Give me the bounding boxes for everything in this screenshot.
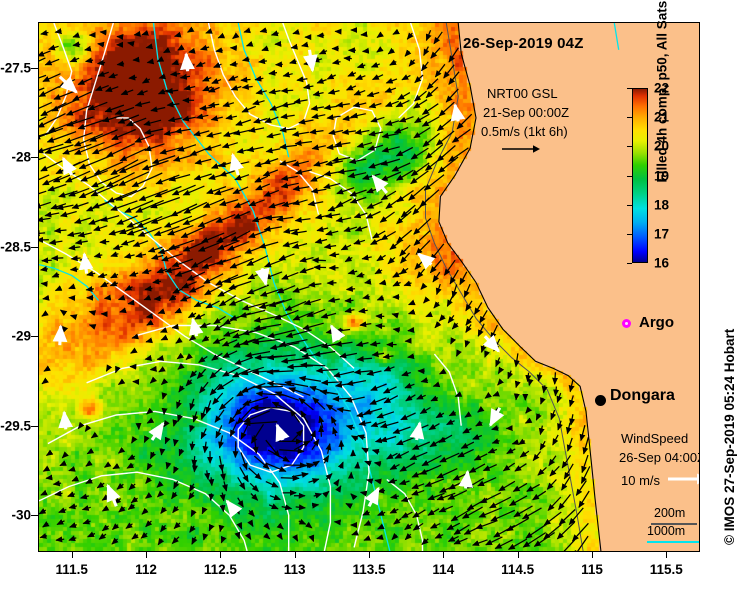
current-vector-arrow (236, 120, 251, 125)
current-vector-arrow (147, 464, 150, 470)
current-vector-arrow (377, 412, 394, 418)
current-vector-arrow (178, 365, 183, 369)
current-vector-arrow (158, 311, 164, 313)
current-vector-arrow (97, 483, 104, 488)
current-vector-arrow (414, 128, 430, 138)
current-vector-arrow (460, 272, 467, 285)
current-vector-arrow (61, 310, 64, 312)
current-vector-arrow (213, 338, 225, 343)
current-vector-arrow (371, 343, 381, 345)
current-vector-arrow (146, 341, 150, 342)
current-vector-arrow (103, 526, 109, 531)
current-vector-arrow (359, 310, 368, 311)
current-vector-arrow (41, 103, 66, 116)
current-vector-arrow (439, 316, 444, 321)
current-vector-arrow (248, 535, 251, 539)
y-tickmark (31, 247, 38, 248)
current-vector-arrow (131, 498, 137, 503)
current-vector-arrow (146, 47, 150, 48)
map-overlay-vectors (39, 23, 699, 551)
current-vector-arrow (293, 187, 309, 190)
current-vector-arrow (473, 436, 482, 440)
current-vector-arrow (133, 60, 139, 61)
current-vector-arrow (386, 79, 397, 83)
current-vector-arrow (390, 465, 399, 470)
current-vector-arrow (189, 51, 195, 52)
current-vector-arrow (175, 129, 190, 132)
current-vector-arrow (324, 184, 340, 188)
current-vector-arrow (467, 498, 487, 509)
current-vector-arrow (153, 281, 161, 282)
current-vector-arrow (366, 212, 380, 219)
current-vector-arrow (175, 270, 192, 276)
current-vector-arrow (476, 521, 497, 529)
current-vector-arrow (439, 506, 453, 512)
sst-contour-line (280, 161, 319, 215)
current-vector-arrow (439, 157, 459, 173)
sst-contour-line (209, 23, 310, 129)
current-vector-arrow (42, 313, 47, 316)
x-tick-label: 114 (432, 562, 454, 577)
current-vector-arrow (120, 149, 146, 161)
current-vector-arrow (196, 63, 205, 67)
current-vector-arrow (112, 539, 118, 544)
current-vector-arrow (128, 43, 134, 44)
current-vector-arrow (369, 162, 386, 168)
current-vector-arrow (496, 358, 500, 367)
current-vector-arrow (435, 535, 443, 539)
current-vector-arrow (83, 507, 91, 509)
current-vector-arrow (488, 449, 497, 452)
current-vector-arrow (86, 463, 91, 466)
current-vector-arrow (312, 146, 326, 149)
current-vector-arrow (491, 510, 515, 521)
current-vector-arrow (377, 35, 381, 38)
current-vector-arrow (414, 425, 429, 431)
current-vector-arrow (364, 523, 370, 526)
current-vector-arrow (39, 51, 51, 56)
current-vector-arrow (381, 437, 397, 442)
x-tick-label: 112 (135, 562, 157, 577)
current-vector-arrow (71, 269, 79, 270)
wind-vector-arrow (310, 50, 313, 71)
x-tick-label: 115.5 (650, 562, 683, 577)
current-vector-arrow (244, 31, 249, 33)
current-vector-arrow (467, 478, 484, 488)
current-vector-arrow (200, 382, 209, 393)
current-vector-arrow (154, 299, 161, 300)
current-vector-arrow (347, 381, 366, 385)
current-vector-arrow (199, 357, 208, 363)
current-vector-arrow (174, 421, 175, 426)
current-vector-arrow (324, 106, 337, 108)
y-tick-label: -29 (0, 329, 31, 344)
current-vector-arrow (147, 323, 151, 325)
current-vector-arrow (98, 44, 103, 45)
current-vector-arrow (151, 108, 165, 111)
current-vector-arrow (492, 441, 499, 444)
colorbar-tick-label: 22 (654, 81, 669, 96)
current-vector-arrow (56, 539, 64, 540)
current-vector-arrow (174, 155, 192, 160)
current-vector-arrow (452, 323, 457, 329)
current-vector-arrow (72, 479, 78, 482)
current-vector-arrow (87, 452, 91, 454)
current-vector-arrow (260, 30, 267, 32)
colorbar-tick-label: 17 (654, 226, 669, 241)
current-vector-arrow (145, 288, 152, 289)
current-vector-arrow (400, 463, 415, 471)
current-vector-arrow (358, 436, 365, 438)
x-tickmark (295, 551, 296, 558)
current-vector-arrow (224, 481, 226, 491)
current-vector-arrow (220, 296, 236, 306)
current-vector-arrow (292, 430, 303, 441)
current-vector-arrow (515, 464, 527, 471)
current-vector-arrow (52, 258, 64, 259)
current-vector-arrow (195, 159, 211, 163)
current-vector-arrow (177, 356, 181, 359)
current-vector-arrow (172, 537, 179, 544)
current-vector-arrow (155, 187, 181, 197)
current-vector-arrow (516, 384, 517, 388)
current-vector-arrow (388, 50, 393, 54)
current-vector-arrow (266, 149, 280, 152)
current-vector-arrow (321, 313, 336, 317)
current-vector-arrow (132, 173, 162, 187)
current-vector-arrow (333, 398, 350, 399)
map-plot-area[interactable]: 26-Sep-2019 04Z NRT00 GSL 21-Sep 00:00Z … (38, 22, 700, 552)
current-vector-arrow (164, 409, 165, 415)
current-vector-arrow (116, 369, 118, 373)
current-vector-arrow (194, 463, 195, 472)
current-vector-arrow (234, 212, 250, 219)
current-vector-arrow (214, 316, 226, 323)
current-vector-arrow (188, 30, 191, 32)
current-vector-arrow (356, 76, 365, 80)
current-vector-arrow (265, 117, 278, 122)
current-vector-arrow (167, 463, 169, 469)
current-vector-arrow (405, 524, 413, 529)
current-vector-arrow (361, 34, 366, 35)
current-vector-arrow (457, 114, 472, 129)
current-vector-arrow (161, 330, 166, 332)
argo-label: Argo (639, 314, 674, 331)
x-tickmark (666, 551, 667, 558)
current-vector-arrow (253, 101, 265, 105)
current-vector-arrow (73, 44, 80, 45)
current-vector-arrow (197, 369, 205, 378)
current-vector-arrow (417, 395, 426, 399)
current-vector-arrow (105, 105, 124, 112)
current-vector-arrow (420, 465, 441, 474)
current-vector-arrow (390, 240, 402, 249)
current-vector-arrow (478, 324, 484, 337)
current-vector-arrow (373, 231, 385, 238)
current-vector-arrow (143, 79, 150, 83)
current-vector-arrow (234, 201, 249, 208)
current-vector-arrow (485, 396, 488, 398)
current-vector-arrow (529, 380, 530, 385)
current-vector-arrow (295, 142, 312, 144)
current-vector-arrow (434, 302, 439, 308)
current-vector-arrow (254, 324, 281, 329)
current-vector-arrow (205, 145, 221, 150)
current-vector-arrow (211, 493, 212, 500)
current-vector-arrow (519, 441, 525, 445)
current-vector-arrow (476, 423, 483, 426)
current-vector-arrow (402, 373, 411, 376)
current-vector-arrow (117, 64, 124, 65)
current-vector-arrow (151, 198, 180, 208)
current-vector-arrow (101, 283, 109, 287)
current-vector-arrow (159, 76, 165, 78)
current-vector-arrow (533, 452, 540, 461)
current-vector-arrow (172, 327, 177, 328)
current-vector-arrow (365, 282, 370, 283)
current-vector-arrow (482, 344, 485, 353)
current-vector-arrow (49, 46, 59, 49)
current-vector-arrow (155, 226, 180, 235)
current-vector-arrow (230, 64, 238, 65)
current-vector-arrow (60, 464, 64, 466)
current-vector-arrow (292, 474, 308, 477)
current-vector-arrow (384, 387, 397, 393)
current-vector-arrow (461, 442, 474, 448)
current-vector-arrow (407, 33, 412, 39)
current-vector-arrow (181, 76, 190, 78)
current-vector-arrow (201, 429, 206, 439)
y-tick-label: -27.5 (0, 60, 31, 75)
current-vector-arrow (312, 115, 325, 118)
current-vector-arrow (579, 491, 589, 507)
x-tickmark (592, 551, 593, 558)
current-vector-arrow (144, 298, 150, 300)
current-vector-arrow (183, 117, 196, 120)
wind-vector-arrow (60, 326, 61, 345)
current-vector-arrow (202, 233, 225, 242)
current-vector-arrow (539, 372, 541, 381)
current-vector-arrow (393, 427, 410, 433)
current-vector-arrow (161, 508, 166, 514)
wind-vector-arrow (64, 412, 66, 429)
current-vector-arrow (431, 524, 441, 529)
current-vector-arrow (486, 537, 503, 545)
current-vector-arrow (256, 184, 270, 190)
current-vector-arrow (179, 449, 182, 455)
current-vector-arrow (293, 312, 313, 320)
current-vector-arrow (313, 93, 323, 95)
current-vector-arrow (449, 148, 469, 162)
current-vector-arrow (338, 486, 341, 491)
current-vector-arrow (363, 512, 370, 515)
current-vector-arrow (247, 44, 253, 46)
current-vector-arrow (249, 231, 267, 238)
current-vector-arrow (181, 297, 192, 301)
current-vector-arrow (139, 190, 167, 201)
current-vector-arrow (435, 323, 439, 328)
current-vector-arrow (317, 35, 324, 36)
current-vector-arrow (40, 536, 47, 538)
current-vector-arrow (415, 259, 425, 269)
current-vector-arrow (105, 298, 111, 299)
current-vector-arrow (282, 103, 296, 106)
current-vector-arrow (568, 438, 573, 451)
wind-vector-arrow (417, 423, 420, 440)
current-vector-arrow (547, 480, 556, 490)
current-vector-arrow (96, 86, 109, 91)
wind-legend-title: WindSpeed (621, 431, 688, 446)
current-vector-arrow (113, 246, 122, 249)
current-vector-arrow (246, 352, 271, 357)
current-vector-arrow (309, 284, 322, 286)
current-vector-arrow (249, 468, 262, 479)
current-vector-arrow (98, 63, 106, 64)
current-vector-arrow (417, 269, 424, 278)
current-vector-arrow (250, 483, 258, 491)
current-vector-arrow (551, 410, 555, 419)
current-vector-arrow (437, 493, 455, 500)
current-vector-arrow (290, 61, 297, 63)
current-vector-arrow (281, 537, 283, 540)
current-vector-arrow (401, 253, 410, 263)
current-vector-arrow (117, 484, 123, 489)
current-vector-arrow (329, 91, 340, 94)
current-vector-arrow (215, 410, 224, 422)
current-vector-arrow (269, 73, 277, 74)
current-vector-arrow (473, 540, 488, 545)
current-vector-arrow (201, 47, 209, 50)
current-vector-arrow (190, 526, 194, 532)
x-tick-label: 113.5 (352, 562, 385, 577)
current-vector-arrow (361, 492, 365, 493)
current-vector-arrow (106, 368, 108, 372)
current-vector-arrow (457, 353, 459, 356)
x-tickmark (146, 551, 147, 558)
current-vector-arrow (39, 175, 49, 183)
current-vector-arrow (526, 524, 547, 538)
current-vector-arrow (128, 456, 135, 460)
current-vector-arrow (413, 442, 430, 449)
current-vector-arrow (222, 505, 223, 512)
wind-vector-arrow (84, 254, 86, 274)
wind-vector-arrow (277, 425, 283, 440)
current-vector-arrow (582, 455, 588, 472)
current-vector-arrow (171, 74, 181, 75)
bathymetry-1000m-contour (614, 23, 618, 50)
current-vector-arrow (190, 148, 207, 155)
copyright-credit: © IMOS 27-Sep-2019 05:24 Hobart (722, 329, 737, 545)
colorbar-tick-label: 21 (654, 110, 669, 125)
current-vector-arrow (205, 285, 223, 294)
current-vector-arrow (217, 256, 241, 264)
current-vector-arrow (157, 484, 161, 487)
current-vector-arrow (165, 216, 192, 227)
current-vector-arrow (87, 273, 95, 275)
current-vector-arrow (340, 353, 357, 356)
current-vector-arrow (44, 369, 47, 371)
current-vector-arrow (516, 396, 517, 400)
current-vector-arrow (172, 492, 177, 498)
current-vector-arrow (313, 260, 326, 261)
current-vector-arrow (269, 505, 278, 509)
x-tick-label: 114.5 (501, 562, 534, 577)
current-vector-arrow (57, 521, 64, 525)
current-vector-arrow (39, 75, 46, 82)
current-vector-arrow (526, 410, 528, 413)
current-vector-arrow (317, 80, 326, 83)
current-vector-arrow (364, 539, 368, 541)
current-vector-arrow (347, 86, 356, 90)
current-vector-arrow (207, 400, 211, 413)
current-vector-arrow (100, 242, 109, 243)
current-vector-arrow (570, 380, 573, 391)
current-vector-arrow (333, 428, 336, 436)
current-vector-arrow (39, 87, 59, 97)
current-vector-arrow (369, 132, 383, 135)
current-vector-arrow (202, 337, 208, 341)
current-vector-arrow (327, 75, 335, 79)
current-vector-arrow (88, 102, 107, 109)
current-vector-arrow (207, 470, 208, 479)
current-vector-arrow (466, 341, 468, 347)
current-vector-arrow (478, 478, 496, 486)
current-vector-arrow (203, 78, 212, 81)
current-vector-arrow (263, 170, 278, 176)
current-vector-arrow (325, 246, 337, 248)
current-vector-arrow (326, 161, 343, 165)
current-vector-arrow (393, 273, 401, 277)
sst-contour-line (434, 354, 461, 426)
current-vector-arrow (405, 51, 409, 56)
current-vector-arrow (105, 465, 109, 468)
current-vector-arrow (353, 103, 366, 106)
current-vector-arrow (423, 104, 439, 115)
colorbar-tick-label: 18 (654, 197, 669, 212)
current-vector-arrow (299, 398, 313, 410)
current-vector-arrow (295, 219, 310, 221)
current-vector-arrow (221, 540, 222, 543)
current-vector-arrow (397, 230, 412, 242)
current-vector-arrow (150, 380, 153, 383)
current-vector-arrow (174, 467, 177, 473)
current-vector-arrow (414, 100, 427, 108)
current-vector-arrow (330, 254, 340, 255)
current-legend-arrow-icon (501, 143, 541, 155)
wind-legend-arrow-icon (667, 472, 700, 486)
current-vector-arrow (293, 161, 309, 165)
current-vector-arrow (200, 107, 212, 108)
current-vector-arrow (249, 128, 264, 131)
current-vector-arrow (371, 384, 387, 390)
current-vector-arrow (39, 510, 46, 514)
current-vector-arrow (145, 129, 164, 133)
current-vector-arrow (70, 525, 77, 527)
current-vector-arrow (321, 426, 322, 437)
current-vector-arrow (43, 469, 48, 472)
current-vector-arrow (363, 51, 369, 52)
current-vector-arrow (391, 496, 399, 498)
current-vector-arrow (122, 240, 135, 244)
current-vector-arrow (458, 449, 474, 457)
current-vector-arrow (95, 162, 124, 175)
current-vector-arrow (329, 131, 343, 134)
y-tick-label: -30 (0, 508, 31, 523)
current-vector-arrow (259, 242, 278, 247)
current-vector-arrow (317, 369, 338, 371)
sst-contour-line (39, 472, 247, 551)
current-vector-arrow (69, 506, 77, 508)
